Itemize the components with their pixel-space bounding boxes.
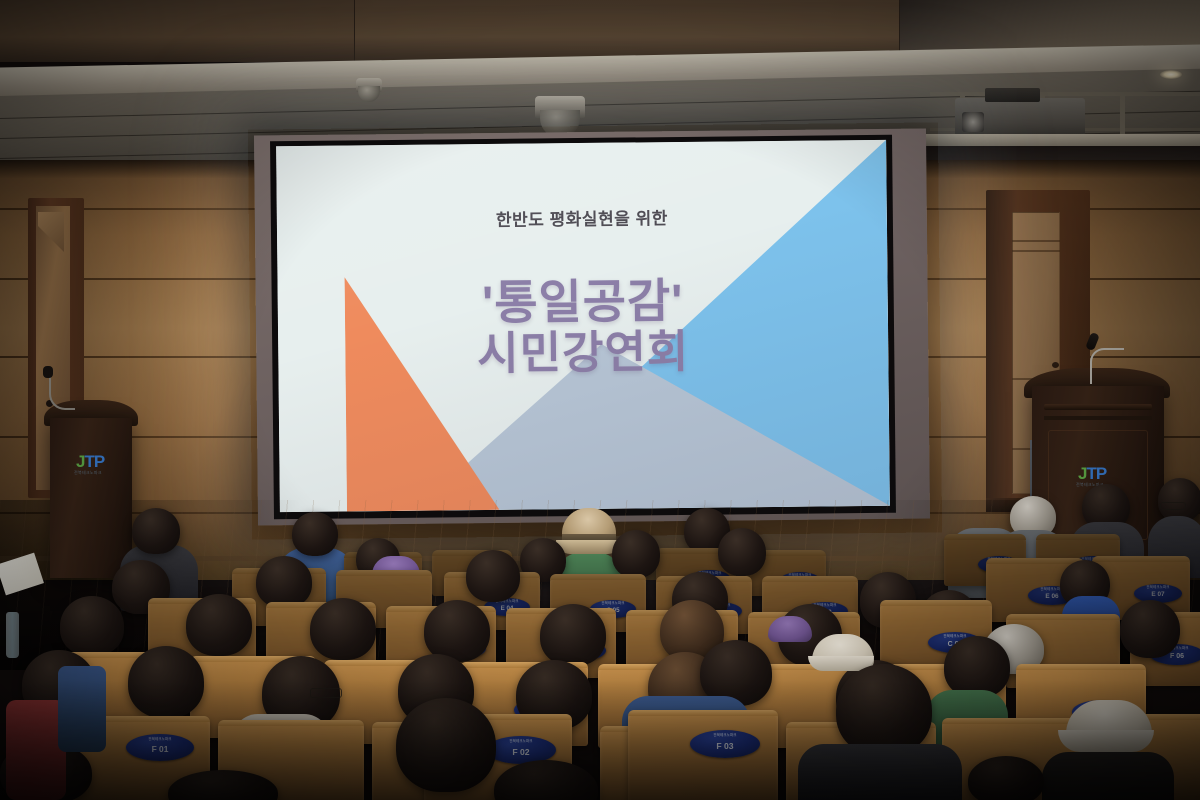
seat-top-edge bbox=[1016, 664, 1146, 670]
seat-top-edge bbox=[1036, 534, 1120, 540]
seat-number-tag: 전북테크노파크 F 03 bbox=[690, 730, 760, 758]
audience-head bbox=[424, 600, 490, 662]
audience-head bbox=[128, 646, 204, 718]
auditorium-scene: 한반도 평화실현을 위한 '통일공감' 시민강연회 JTP 전북테크노파크 JT… bbox=[0, 0, 1200, 800]
podium-left-mic-stand bbox=[49, 370, 75, 410]
seat-top-edge bbox=[762, 576, 858, 582]
audience-head bbox=[836, 664, 932, 756]
door-right-rail bbox=[1012, 240, 1060, 242]
balcony-ledge bbox=[905, 134, 1200, 146]
logo-letter-t: T bbox=[1086, 464, 1095, 483]
seat-tag-code: E 07 bbox=[1151, 592, 1164, 598]
podium-left-logo-subtitle: 전북테크노파크 bbox=[74, 470, 102, 476]
seat-top-edge bbox=[986, 558, 1084, 564]
seat-top-edge bbox=[218, 720, 364, 726]
audience-head bbox=[292, 512, 338, 556]
logo-letter-p: P bbox=[94, 452, 104, 471]
audience-head bbox=[540, 604, 606, 666]
seat-tag-org: 전북테크노파크 bbox=[601, 602, 624, 605]
water-bottle bbox=[6, 612, 19, 658]
seat-tag-code: F 02 bbox=[512, 748, 529, 757]
projector-lens-icon bbox=[962, 112, 984, 132]
audience-head bbox=[132, 508, 180, 554]
audience-body bbox=[58, 666, 106, 752]
audience-head bbox=[256, 556, 312, 608]
seat-top-edge bbox=[880, 600, 992, 606]
audience-glasses-icon bbox=[1160, 502, 1186, 510]
ceiling-panel-left bbox=[0, 0, 355, 62]
audience-head bbox=[466, 550, 520, 602]
slide-title-line2: 시민강연회 bbox=[278, 323, 889, 382]
door-right-rail bbox=[1012, 250, 1060, 252]
audience-cap-brim bbox=[1058, 730, 1154, 752]
audience-head bbox=[310, 598, 376, 660]
slide-title-line1: '통일공감' bbox=[278, 275, 888, 329]
projection-screen: 한반도 평화실현을 위한 '통일공감' 시민강연회 bbox=[276, 140, 890, 512]
logo-letter-p: P bbox=[1096, 464, 1106, 483]
railing-post bbox=[1120, 92, 1125, 134]
podium-right-logo: JTP bbox=[1078, 464, 1106, 484]
seat-top-edge bbox=[1092, 556, 1190, 562]
door-right-handle-icon[interactable] bbox=[1052, 362, 1059, 368]
seat-top-edge bbox=[1006, 614, 1120, 620]
seat-tag-code: F 01 bbox=[152, 745, 169, 753]
seat-tag-org: 전북테크노파크 bbox=[148, 738, 171, 741]
audience-head bbox=[718, 528, 766, 576]
podium-right-trim bbox=[1044, 404, 1152, 410]
seat-top-edge bbox=[550, 574, 646, 580]
audience-head bbox=[186, 594, 252, 656]
audience-head bbox=[396, 698, 496, 792]
seat-top-edge bbox=[336, 570, 432, 576]
audience-glasses-icon bbox=[310, 688, 342, 698]
audience-body bbox=[798, 744, 962, 800]
audience-head bbox=[944, 636, 1010, 698]
seat-tag-code: F 06 bbox=[1170, 653, 1184, 660]
projector-mount bbox=[985, 88, 1040, 102]
podium-right-trim bbox=[1044, 416, 1152, 420]
seat-tag-code: F 03 bbox=[716, 742, 733, 751]
audience-purple-hat bbox=[768, 616, 812, 642]
logo-letter-t: T bbox=[84, 452, 93, 471]
audience-body bbox=[1042, 752, 1174, 800]
slide-title-block: '통일공감' 시민강연회 bbox=[278, 275, 889, 382]
audience-head bbox=[60, 596, 124, 656]
seat-tag-org: 전북테크노파크 bbox=[1146, 586, 1169, 589]
seat-tag-code: E 06 bbox=[1045, 594, 1058, 600]
podium-right-mic-stand bbox=[1090, 348, 1124, 384]
seat-number-tag: 전북테크노파크 F 01 bbox=[126, 734, 194, 761]
podium-left-logo: JTP bbox=[76, 452, 104, 472]
seat-tag-org: 전북테크노파크 bbox=[509, 740, 532, 743]
seat-top-edge bbox=[944, 534, 1026, 540]
podium-left-mic-capsule-icon bbox=[43, 366, 53, 378]
audience-head bbox=[968, 756, 1044, 800]
balcony-railing bbox=[930, 92, 1200, 96]
audience-body bbox=[6, 700, 66, 800]
audience-head bbox=[612, 530, 660, 578]
ceiling-downlight bbox=[1160, 70, 1182, 79]
seat[interactable]: 전북테크노파크 F 03 bbox=[628, 710, 778, 800]
seat-tag-org: 전북테크노파크 bbox=[713, 734, 736, 737]
seat-top-edge bbox=[628, 710, 778, 716]
audience-head bbox=[1120, 600, 1180, 658]
podium-left bbox=[50, 418, 132, 578]
